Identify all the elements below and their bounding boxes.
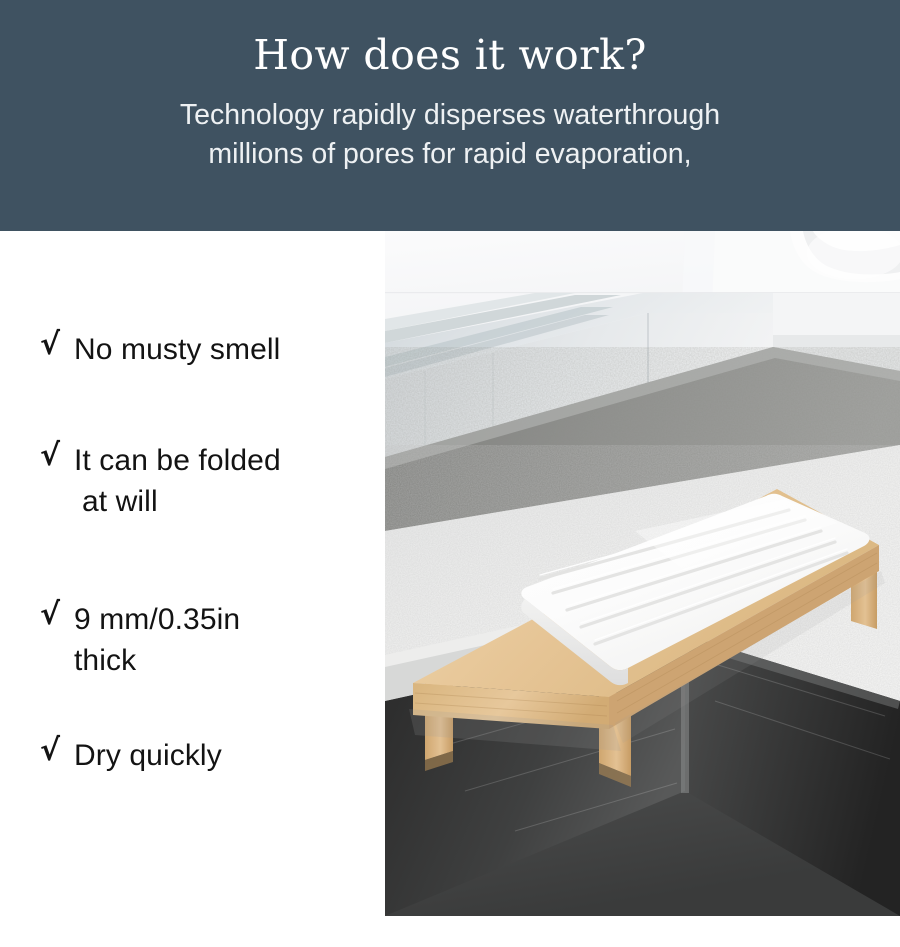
list-item-line: It can be folded bbox=[74, 441, 370, 482]
page-subtitle-line-2: millions of pores for rapid evaporation, bbox=[180, 135, 720, 174]
check-icon: √ bbox=[40, 736, 74, 766]
list-item: √ It can be folded at will bbox=[40, 441, 370, 523]
product-photo bbox=[385, 231, 900, 916]
list-item-line: Dry quickly bbox=[74, 736, 370, 777]
list-item-label: Dry quickly bbox=[74, 736, 370, 777]
list-item: √ No musty smell bbox=[40, 330, 370, 371]
list-item: √ Dry quickly bbox=[40, 736, 370, 777]
list-item-label: It can be folded at will bbox=[74, 441, 370, 523]
check-icon: √ bbox=[40, 600, 74, 630]
list-item-line: No musty smell bbox=[74, 330, 370, 371]
list-item: √ 9 mm/0.35in thick bbox=[40, 600, 370, 682]
page-subtitle-line-1: Technology rapidly disperses waterthroug… bbox=[180, 96, 720, 135]
feature-list: √ No musty smell √ It can be folded at w… bbox=[0, 231, 385, 947]
page-title: How does it work? bbox=[253, 34, 646, 77]
list-item-line: at will bbox=[74, 482, 370, 523]
list-item-label: No musty smell bbox=[74, 330, 370, 371]
kitchen-scene-illustration bbox=[385, 231, 900, 916]
list-item-label: 9 mm/0.35in thick bbox=[74, 600, 370, 682]
header-banner: How does it work? Technology rapidly dis… bbox=[0, 0, 900, 231]
list-item-line: 9 mm/0.35in bbox=[74, 600, 370, 641]
check-icon: √ bbox=[40, 330, 74, 360]
page-subtitle: Technology rapidly disperses waterthroug… bbox=[180, 96, 720, 175]
content-area: √ No musty smell √ It can be folded at w… bbox=[0, 231, 900, 947]
list-item-line: thick bbox=[74, 641, 370, 682]
check-icon: √ bbox=[40, 441, 74, 471]
